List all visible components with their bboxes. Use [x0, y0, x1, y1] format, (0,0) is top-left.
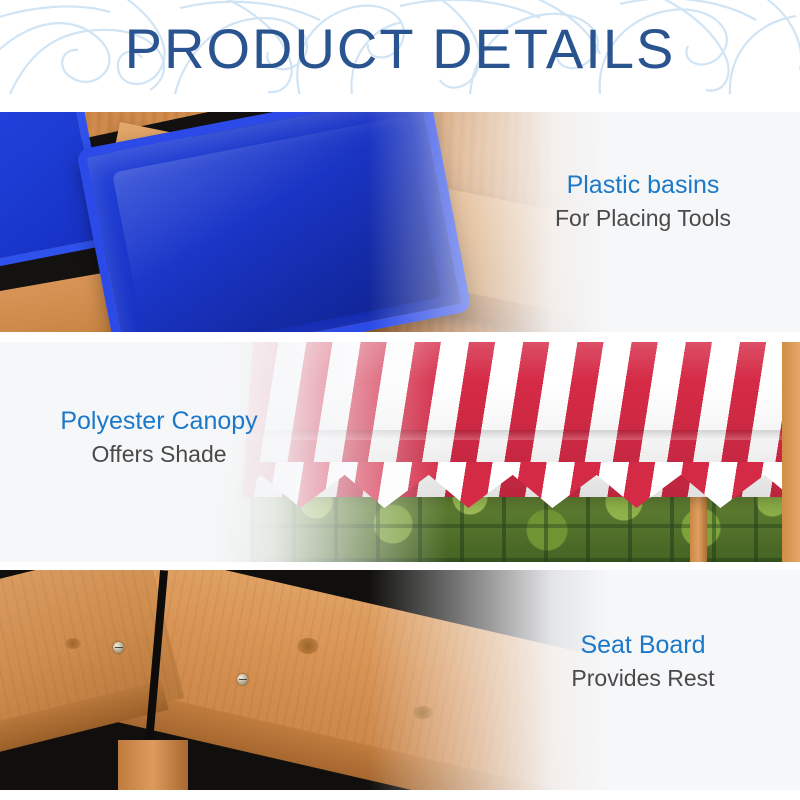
caption-subtitle: Provides Rest — [508, 662, 778, 694]
caption-polyester-canopy: Polyester Canopy Offers Shade — [18, 404, 300, 470]
caption-subtitle: Offers Shade — [18, 438, 300, 470]
caption-title: Plastic basins — [508, 168, 778, 202]
detail-panel-polyester-canopy: Polyester Canopy Offers Shade — [0, 342, 800, 562]
page-title: PRODUCT DETAILS — [0, 18, 800, 80]
caption-plastic-basins: Plastic basins For Placing Tools — [508, 168, 778, 234]
caption-seat-board: Seat Board Provides Rest — [508, 628, 778, 694]
detail-panel-seat-board: Seat Board Provides Rest — [0, 570, 800, 790]
caption-title: Polyester Canopy — [18, 404, 300, 438]
page-header: PRODUCT DETAILS — [0, 0, 800, 94]
detail-panel-plastic-basins: Plastic basins For Placing Tools — [0, 112, 800, 332]
caption-title: Seat Board — [508, 628, 778, 662]
caption-subtitle: For Placing Tools — [508, 202, 778, 234]
